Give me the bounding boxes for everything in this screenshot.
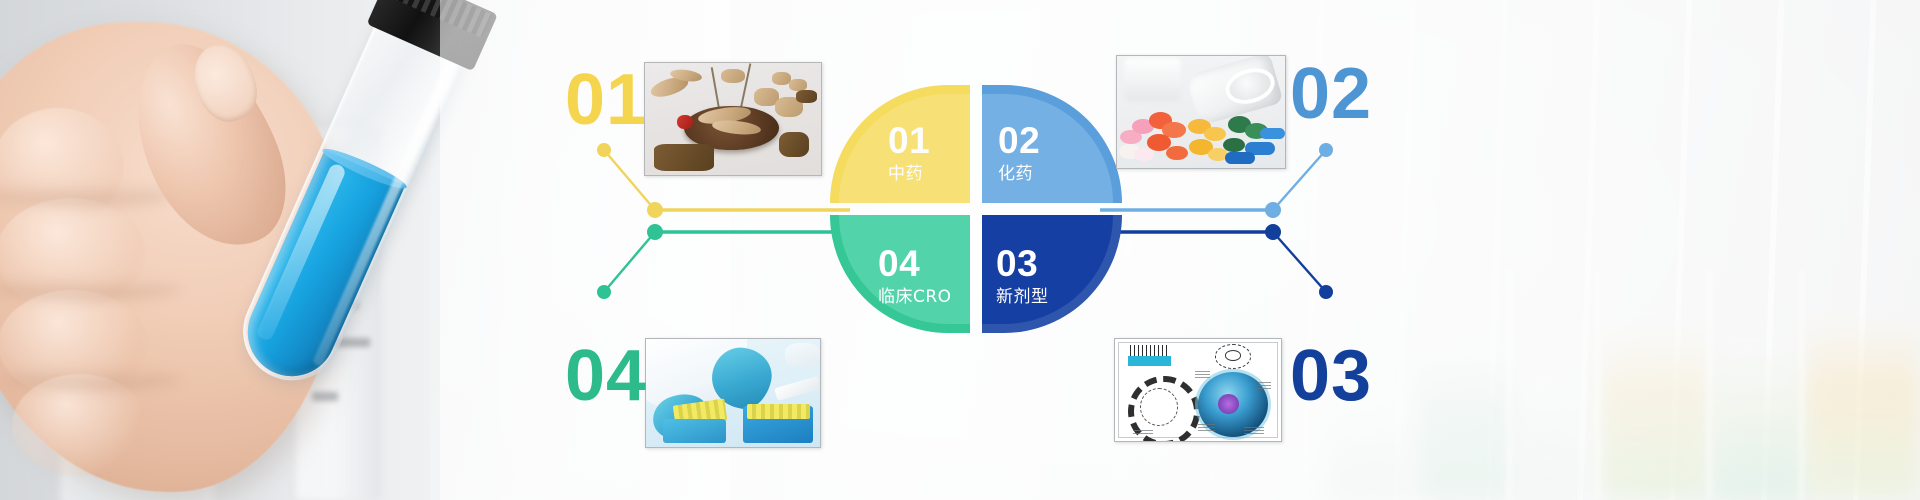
connector-02-dot-outer	[1319, 143, 1333, 157]
thumbnail-01-herbs[interactable]	[644, 62, 822, 176]
wheel-quadrant-01[interactable]: 01 中药	[830, 85, 970, 203]
herb-slice-5	[721, 69, 746, 84]
diagram-large-ring-inner	[1140, 388, 1179, 426]
outer-number-02: 02	[1290, 58, 1372, 130]
connector-04-dot-outer	[597, 285, 611, 299]
diagram-annotation-5	[1133, 429, 1153, 434]
thumbnail-02-pills[interactable]	[1116, 55, 1286, 169]
outer-number-04: 04	[565, 340, 647, 412]
background-jar	[1124, 58, 1181, 101]
wheel-quadrant-03-text: 03 新剂型	[996, 245, 1049, 306]
outer-number-03: 03	[1290, 340, 1372, 412]
diagram-comb-teeth	[1130, 345, 1170, 356]
diagram-blue-bar	[1128, 356, 1171, 365]
pill-yellow-2	[1204, 127, 1226, 142]
wheel-quadrant-04-label: 临床CRO	[878, 289, 952, 306]
diagram-annotation-1	[1195, 370, 1210, 378]
diagram-annotation-4	[1244, 427, 1264, 434]
pill-orange-4	[1166, 146, 1188, 161]
thumbnail-04-image	[646, 339, 820, 447]
wheel-quadrant-03-label: 新剂型	[996, 289, 1049, 306]
wheel-quadrant-01-text: 01 中药	[888, 122, 930, 183]
connector-01-dot-outer	[597, 143, 611, 157]
thumbnail-03-liposome-diagram[interactable]	[1114, 338, 1282, 442]
outer-number-01: 01	[565, 64, 647, 136]
wheel-quadrant-04-number: 04	[878, 245, 952, 282]
wheel-quadrant-02[interactable]: 02 化药	[982, 85, 1122, 203]
pipette-tips-rack	[747, 404, 810, 419]
wheel-quadrant-02-number: 02	[998, 122, 1040, 159]
herb-slice-1	[772, 72, 791, 85]
wheel-quadrant-01-label: 中药	[888, 166, 930, 183]
tip-box-left	[663, 419, 726, 443]
diagram-annotation-2	[1258, 382, 1271, 389]
pill-white-2	[1134, 148, 1154, 161]
connector-03-dot-outer	[1319, 285, 1333, 299]
herb-dark-2	[779, 132, 809, 157]
wheel-quadrant-04[interactable]: 04 临床CRO	[830, 215, 970, 333]
connector-04	[597, 224, 850, 299]
connector-04-dot-elbow	[647, 224, 663, 240]
diagram-annotation-3	[1198, 423, 1215, 431]
wheel-quadrant-02-label: 化药	[998, 166, 1040, 183]
pill-blue-capsule-2	[1225, 152, 1255, 163]
thumbnail-04-lab[interactable]	[645, 338, 821, 448]
wheel-quadrant-02-text: 02 化药	[998, 122, 1040, 183]
wheel-quadrant-03[interactable]: 03 新剂型	[982, 215, 1122, 333]
thumbnail-02-image	[1117, 56, 1285, 168]
herb-red-berries	[677, 115, 693, 130]
thumbnail-01-image	[645, 63, 821, 175]
wheel-quadrant-04-text: 04 临床CRO	[878, 245, 952, 306]
center-wheel: 01 中药 02 化药 04 临床CRO 03 新剂型	[830, 85, 1122, 333]
banner-stage: 01 中药 02 化药 04 临床CRO 03 新剂型	[0, 0, 1920, 500]
connector-03	[1100, 224, 1333, 299]
pill-green-3	[1223, 138, 1245, 153]
wheel-quadrant-03-number: 03	[996, 245, 1049, 282]
connector-02-dot-elbow	[1265, 202, 1281, 218]
herb-dark-1	[796, 90, 817, 103]
pipette	[774, 376, 821, 401]
pill-blue-capsule-3	[1260, 128, 1285, 139]
connector-03-dot-elbow	[1265, 224, 1281, 240]
pipette-holder	[785, 343, 820, 367]
connector-01-dot-elbow	[647, 202, 663, 218]
wheel-quadrant-01-number: 01	[888, 122, 930, 159]
herb-dark-roots	[654, 144, 714, 171]
thumbnail-03-image	[1115, 339, 1281, 441]
